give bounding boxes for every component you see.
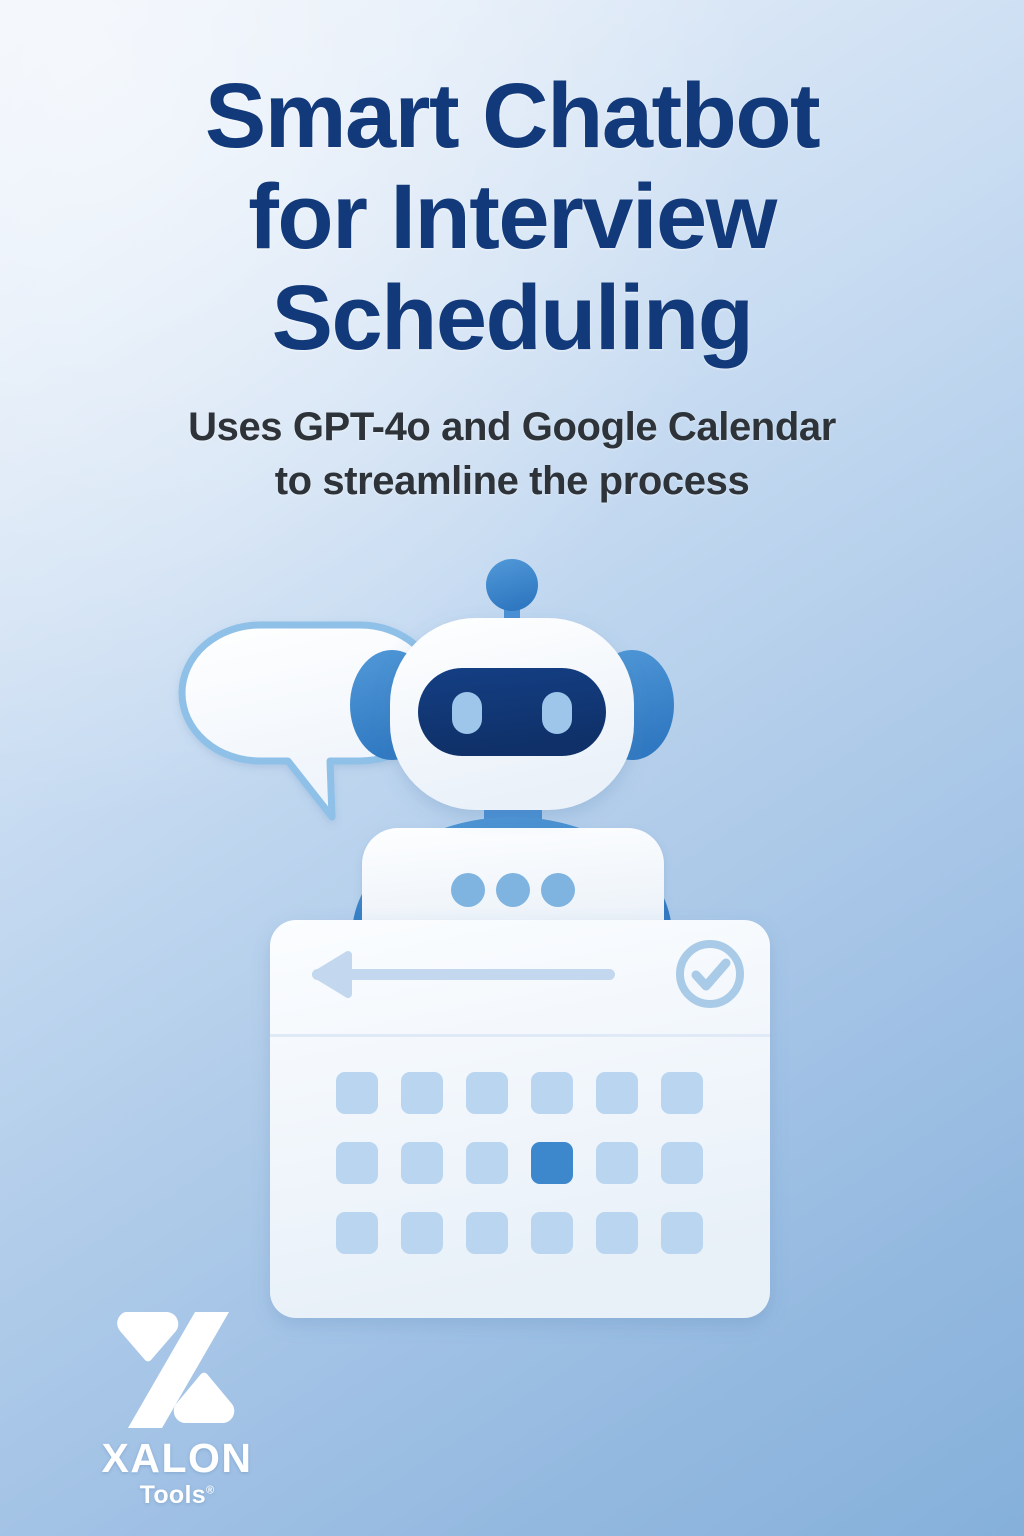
- calendar-day-cell[interactable]: [661, 1072, 703, 1114]
- headline-line-2: for Interview: [95, 167, 929, 268]
- subhead-line-2: to streamline the process: [120, 454, 904, 508]
- page-subtitle: Uses GPT-4o and Google Calendar to strea…: [0, 400, 1024, 508]
- calendar-day-cell[interactable]: [401, 1072, 443, 1114]
- calendar-day-cell-selected[interactable]: [531, 1142, 573, 1184]
- robot-button: [451, 873, 485, 907]
- calendar-day-cell[interactable]: [466, 1142, 508, 1184]
- text-block: Smart Chatbot for Interview Scheduling U…: [0, 66, 1024, 508]
- poster-canvas: Smart Chatbot for Interview Scheduling U…: [0, 0, 1024, 1536]
- calendar-day-cell[interactable]: [336, 1212, 378, 1254]
- xalon-x-mark-icon: [117, 1306, 237, 1434]
- registered-trademark-mark: ®: [206, 1485, 214, 1497]
- calendar-day-cell[interactable]: [401, 1142, 443, 1184]
- calendar-day-cell[interactable]: [661, 1212, 703, 1254]
- calendar-day-cell[interactable]: [596, 1072, 638, 1114]
- robot-button: [541, 873, 575, 907]
- robot-eye: [542, 692, 572, 734]
- calendar-day-cell[interactable]: [596, 1142, 638, 1184]
- calendar-day-cell[interactable]: [466, 1072, 508, 1114]
- page-title: Smart Chatbot for Interview Scheduling: [0, 66, 1024, 370]
- calendar-divider: [270, 1034, 770, 1037]
- calendar-day-cell[interactable]: [596, 1212, 638, 1254]
- robot-eye: [452, 692, 482, 734]
- chatbot-calendar-illustration: [0, 540, 1024, 1370]
- calendar-day-cell[interactable]: [336, 1072, 378, 1114]
- subhead-line-1: Uses GPT-4o and Google Calendar: [120, 400, 904, 454]
- calendar-day-cell[interactable]: [401, 1212, 443, 1254]
- calendar-day-cell[interactable]: [466, 1212, 508, 1254]
- calendar-day-cell[interactable]: [336, 1142, 378, 1184]
- robot-button: [496, 873, 530, 907]
- logo-subname: Tools®: [140, 1483, 215, 1508]
- headline-line-1: Smart Chatbot: [95, 66, 929, 167]
- logo-wordmark: XALON: [62, 1438, 292, 1479]
- calendar-day-cell[interactable]: [531, 1212, 573, 1254]
- calendar-day-cell[interactable]: [661, 1142, 703, 1184]
- brand-logo: XALON Tools®: [62, 1306, 292, 1508]
- logo-subname-text: Tools: [140, 1481, 206, 1509]
- headline-line-3: Scheduling: [95, 268, 929, 369]
- calendar-day-cell[interactable]: [531, 1072, 573, 1114]
- robot-visor: [418, 668, 606, 756]
